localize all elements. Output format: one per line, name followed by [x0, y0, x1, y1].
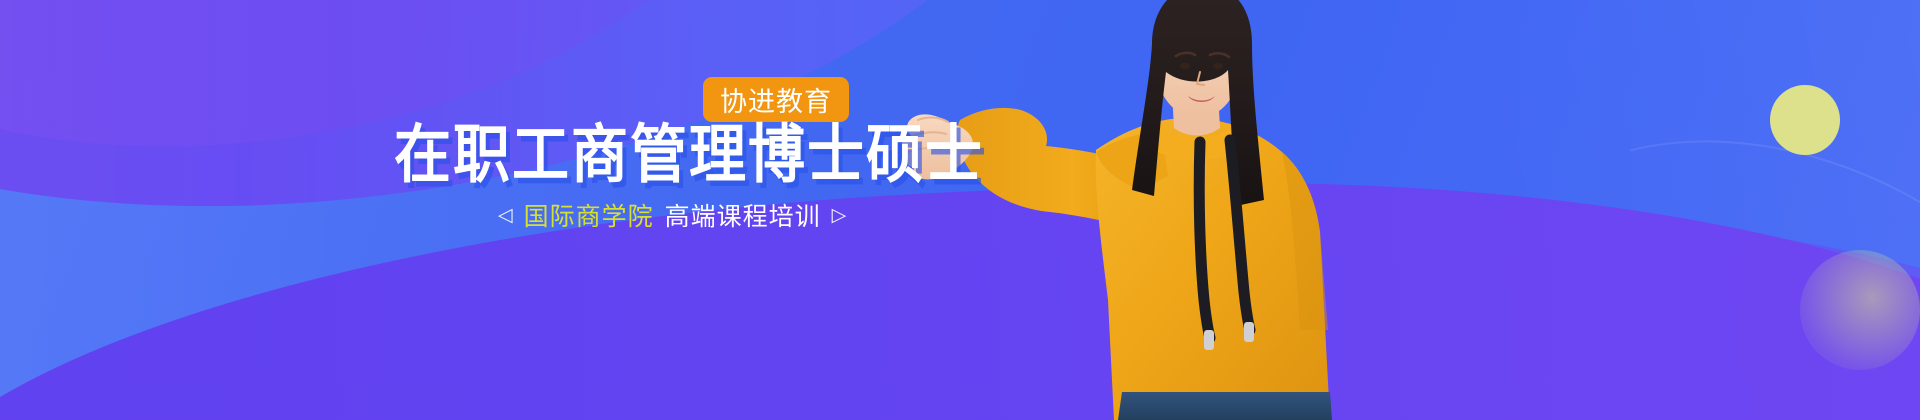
model-drawstring-tip-right — [1244, 322, 1254, 342]
headline-title: 在职工商管理博士硕士 — [394, 124, 914, 188]
subtitle-accent-text: 国际商学院 — [524, 197, 654, 233]
yellow-blob-decoration — [1800, 250, 1920, 370]
model-eye-right — [1213, 63, 1223, 70]
yellow-circle-decoration — [1770, 85, 1840, 155]
model-drawstring-tip-left — [1204, 330, 1214, 350]
subtitle-plain-text: 高端课程培训 — [665, 197, 821, 233]
triangle-left-icon: ◁ — [498, 206, 513, 225]
model-photo — [900, 0, 1360, 420]
triangle-right-icon: ▷ — [832, 206, 847, 225]
banner-text-content: 协进教育 在职工商管理博士硕士 ◁ 国际商学院 高端课程培训 ▷ — [0, 0, 960, 420]
promo-banner: 协进教育 在职工商管理博士硕士 ◁ 国际商学院 高端课程培训 ▷ — [0, 0, 1920, 420]
model-eye-left — [1180, 63, 1190, 70]
brand-badge: 协进教育 — [703, 77, 849, 122]
subtitle-line: ◁ 国际商学院 高端课程培训 ▷ — [498, 197, 846, 233]
model-jeans — [1118, 392, 1332, 420]
